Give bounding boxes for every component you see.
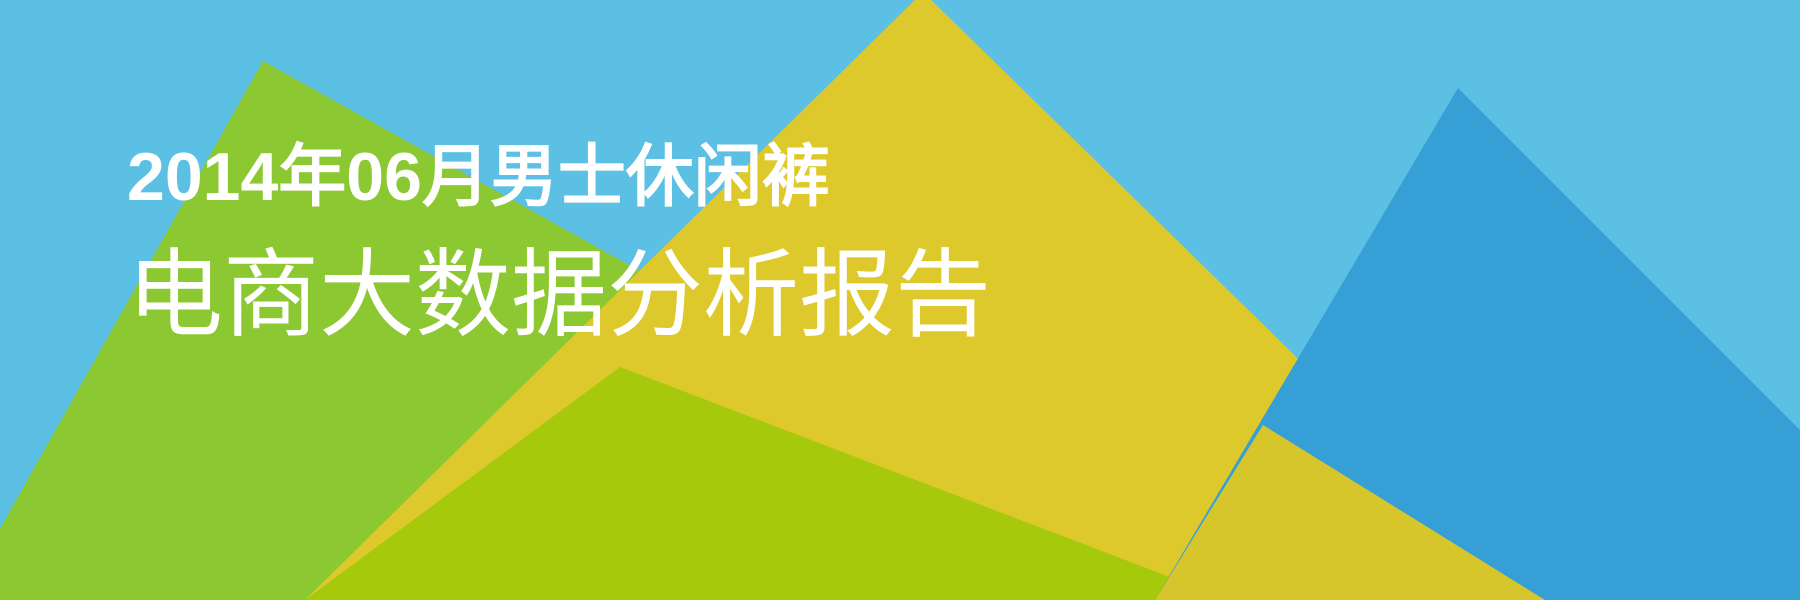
report-cover-banner: 2014年06月男士休闲裤 电商大数据分析报告 (0, 0, 1800, 600)
decorative-triangle-background (0, 0, 1800, 600)
